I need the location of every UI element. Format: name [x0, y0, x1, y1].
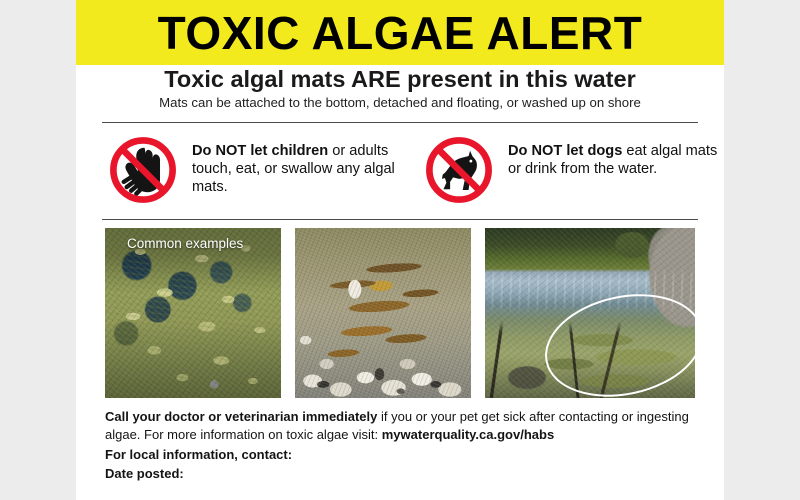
- warning-dogs: Do NOT let dogs eat algal mats or drink …: [400, 130, 724, 216]
- alert-poster: TOXIC ALGAE ALERT Toxic algal mats ARE p…: [76, 0, 724, 500]
- photo-algal-mat-green: Common examples: [105, 228, 281, 398]
- divider-top: [102, 122, 698, 123]
- alert-banner: TOXIC ALGAE ALERT: [76, 0, 724, 65]
- example-photos: Common examples: [76, 228, 724, 400]
- footer-text-block: Call your doctor or veterinarian immedia…: [105, 408, 701, 484]
- subheadline-text: Mats can be attached to the bottom, deta…: [76, 95, 724, 111]
- footer-local-info: For local information, contact:: [105, 446, 701, 464]
- no-dogs-icon: [422, 133, 496, 207]
- warning-dogs-text: Do NOT let dogs eat algal mats or drink …: [508, 133, 724, 178]
- headline-text: Toxic algal mats ARE present in this wat…: [76, 66, 724, 92]
- page-title: TOXIC ALGAE ALERT: [158, 10, 643, 56]
- photo1-shading-layer: [105, 228, 281, 398]
- warnings-row: Do NOT let children or adults touch, eat…: [76, 130, 724, 216]
- no-hand-touching-icon: [106, 133, 180, 207]
- footer-call-line: Call your doctor or veterinarian immedia…: [105, 408, 701, 445]
- warning-children-bold: Do NOT let children: [192, 143, 328, 159]
- screenshot-root: TOXIC ALGAE ALERT Toxic algal mats ARE p…: [0, 0, 800, 500]
- footer-call-bold: Call your doctor or veterinarian immedia…: [105, 409, 377, 424]
- warning-children: Do NOT let children or adults touch, eat…: [76, 130, 400, 216]
- divider-middle: [102, 219, 698, 220]
- warning-dogs-bold: Do NOT let dogs: [508, 143, 622, 159]
- footer-url[interactable]: mywaterquality.ca.gov/habs: [382, 427, 554, 442]
- photo-algal-mat-brown-cobble: [295, 228, 471, 398]
- photo2-noise-layer: [295, 228, 471, 398]
- photos-caption: Common examples: [127, 236, 243, 251]
- warning-children-text: Do NOT let children or adults touch, eat…: [192, 133, 400, 197]
- headline-block: Toxic algal mats ARE present in this wat…: [76, 66, 724, 111]
- photo-shoreline-circled-mat: [485, 228, 695, 398]
- footer-date-posted: Date posted:: [105, 465, 701, 483]
